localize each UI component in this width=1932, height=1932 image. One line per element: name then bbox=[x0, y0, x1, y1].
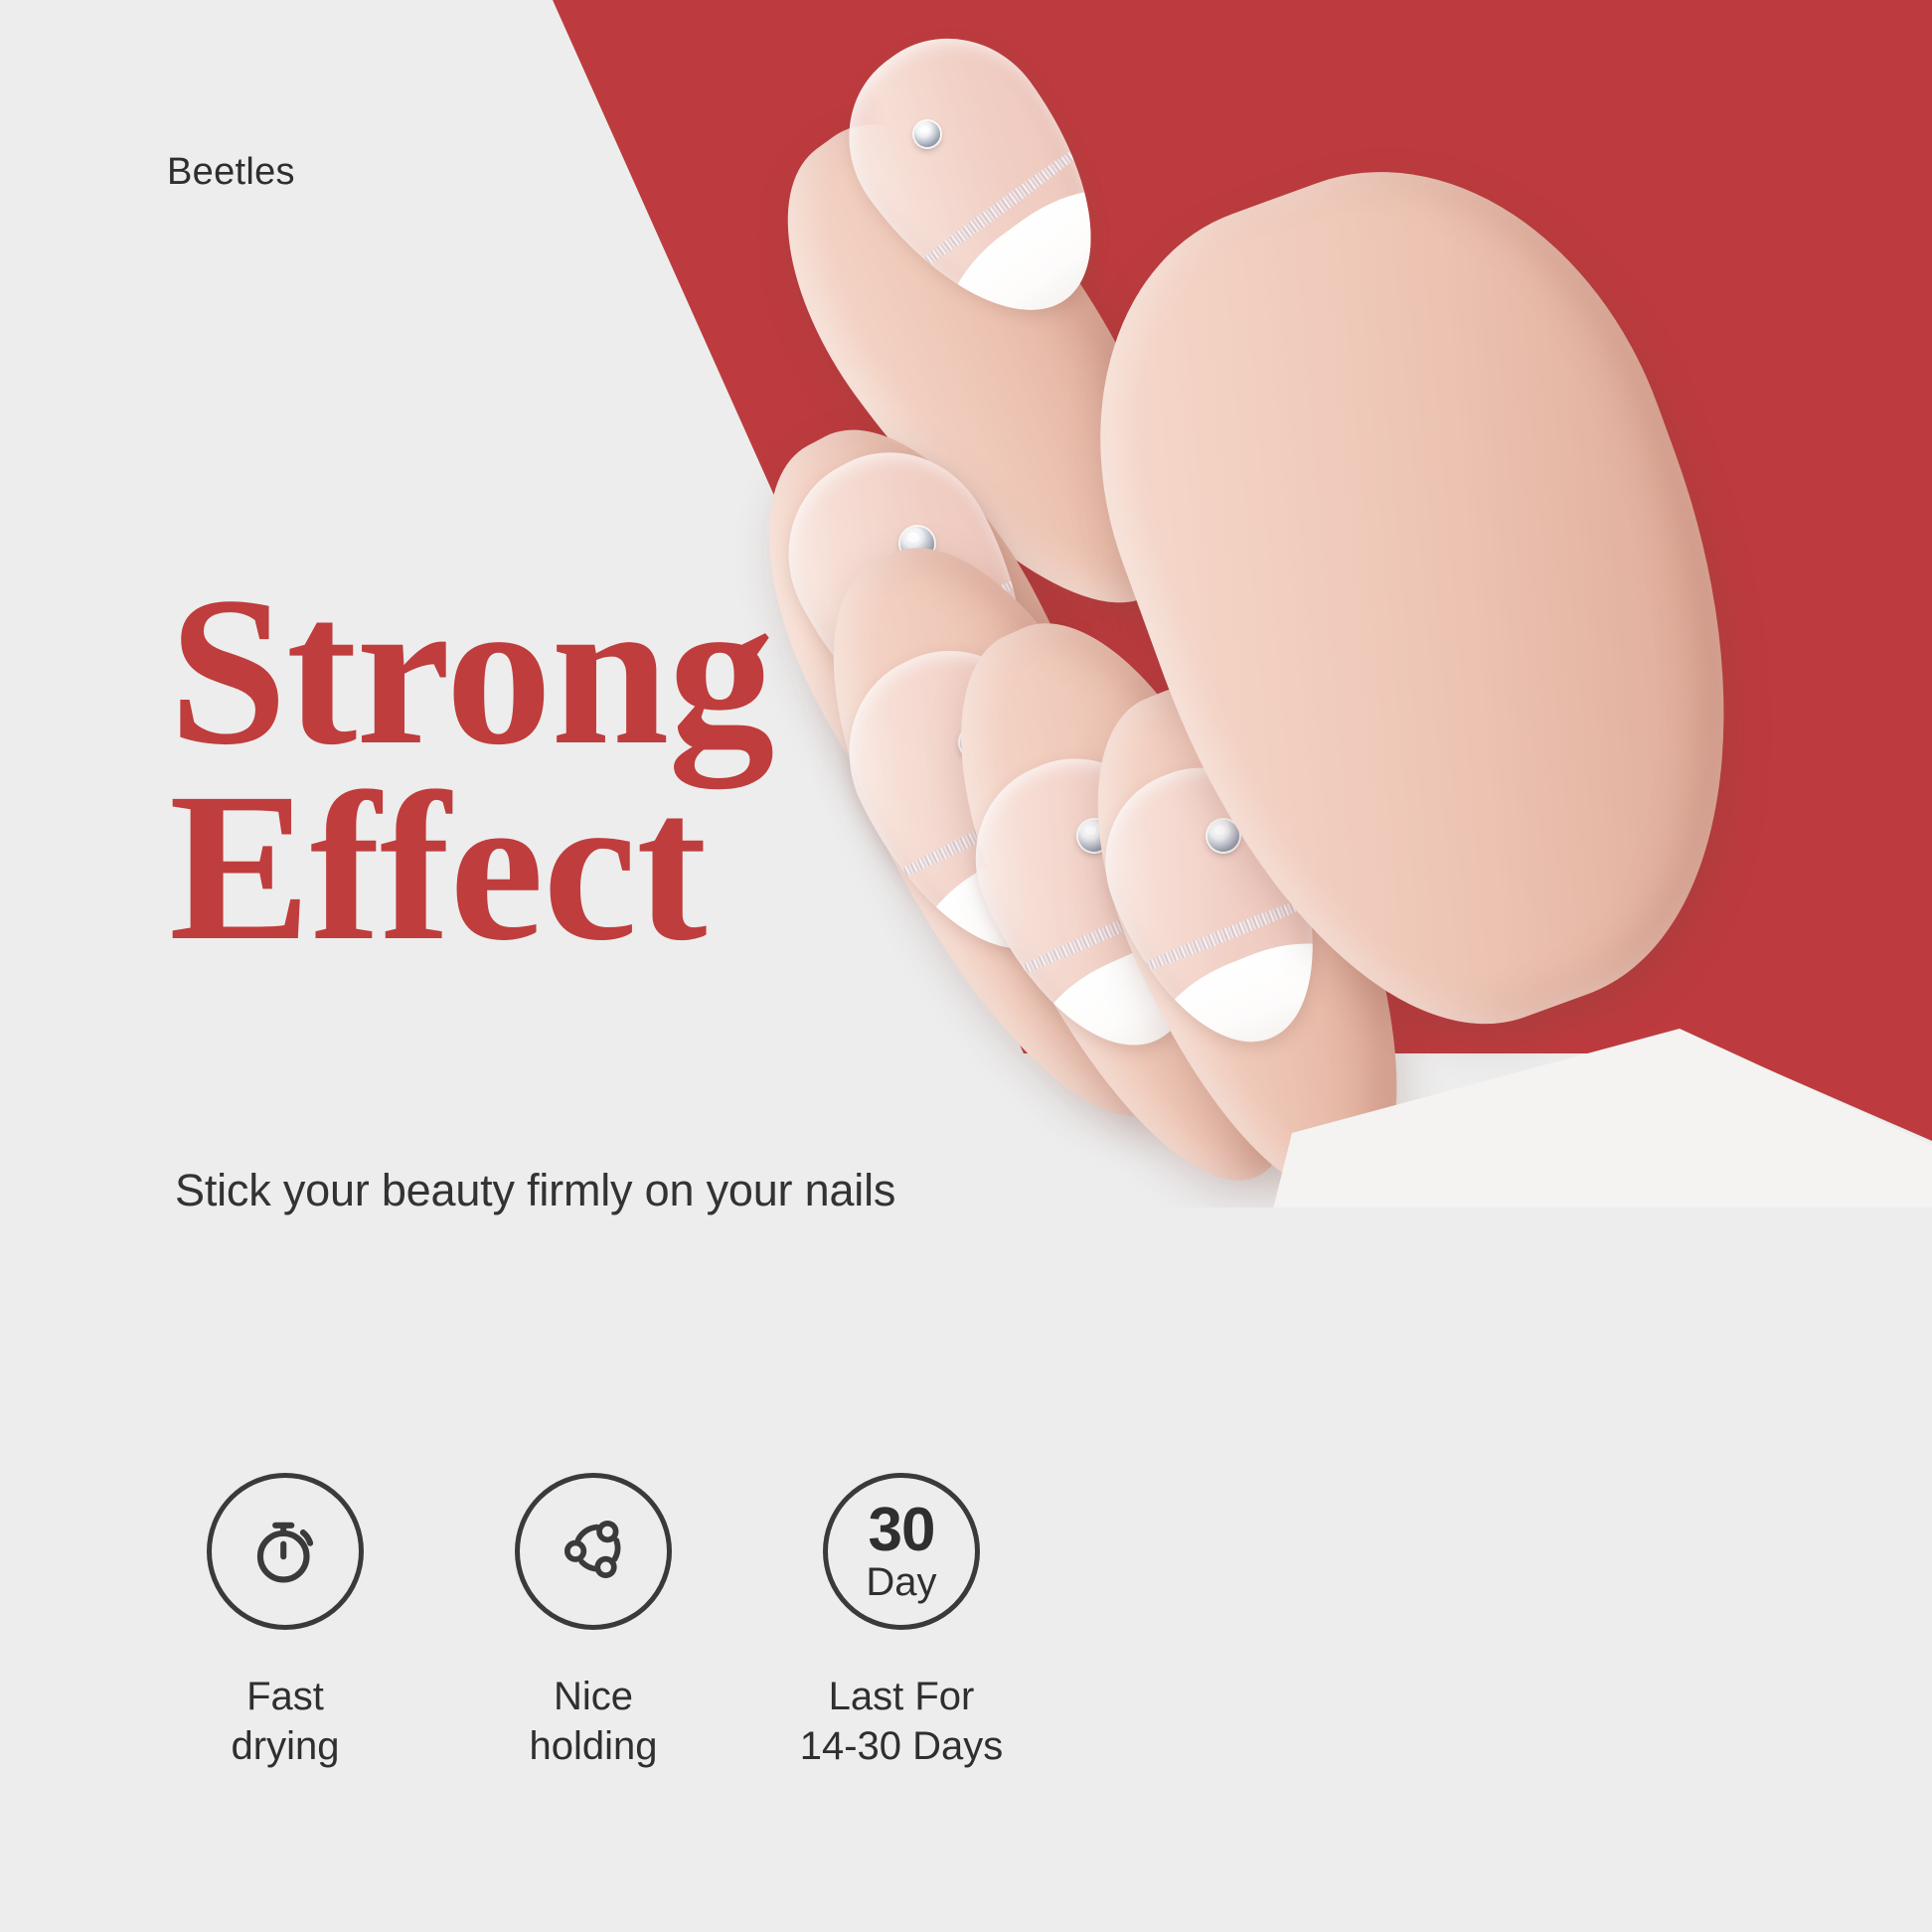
bond-molecule-icon bbox=[551, 1507, 636, 1597]
headline-line-1: Strong bbox=[169, 574, 773, 770]
feature-icon-circle: 30 Day bbox=[823, 1473, 980, 1630]
stopwatch-icon bbox=[242, 1507, 328, 1597]
promo-poster: Beetles Strong Effect Stick your beauty … bbox=[0, 0, 1932, 1932]
headline-line-2: Effect bbox=[169, 770, 773, 966]
brand-name: Beetles bbox=[167, 151, 295, 194]
day-unit: Day bbox=[866, 1562, 936, 1602]
subtitle: Stick your beauty firmly on your nails bbox=[175, 1165, 895, 1216]
feature-fast-drying: Fast drying bbox=[171, 1473, 400, 1772]
feature-long-lasting: 30 Day Last For 14-30 Days bbox=[787, 1473, 1016, 1772]
day-number: 30 bbox=[869, 1501, 935, 1560]
feature-icon-circle bbox=[515, 1473, 672, 1630]
feature-label: Fast drying bbox=[232, 1672, 340, 1772]
feature-nice-holding: Nice holding bbox=[479, 1473, 708, 1772]
feature-label: Last For 14-30 Days bbox=[800, 1672, 1004, 1772]
rhinestone bbox=[914, 121, 940, 147]
page-title: Strong Effect bbox=[169, 574, 773, 966]
product-photo-hand bbox=[924, 0, 1932, 1222]
feature-label: Nice holding bbox=[529, 1672, 657, 1772]
feature-list: Fast drying Nice holding bbox=[171, 1473, 1016, 1772]
feature-icon-circle bbox=[207, 1473, 364, 1630]
